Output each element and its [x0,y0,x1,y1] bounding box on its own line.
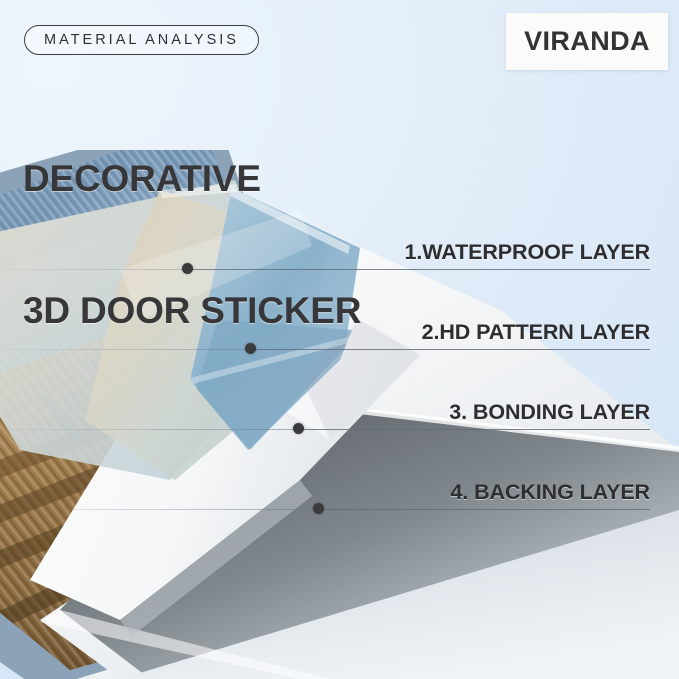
brand-logo-text: VIRANDA [524,26,650,57]
badge-label: MATERIAL ANALYSIS [44,32,239,48]
layer-leader-line-4 [319,509,650,510]
layer-leader-line-2 [251,349,650,350]
brand-logo-box: VIRANDA [506,13,668,70]
layer-label-2: 2.HD PATTERN LAYER [422,320,650,345]
page-title: DECORATIVE 3D DOOR STICKER [23,69,361,421]
layer-marker-dot-4 [313,503,324,514]
title-line-2: 3D DOOR STICKER [23,289,361,333]
layer-leader-line-1 [188,269,650,270]
layer-marker-dot-1 [182,263,193,274]
layer-label-1: 1.WATERPROOF LAYER [405,240,650,265]
layer-marker-dot-2 [245,343,256,354]
material-analysis-badge: MATERIAL ANALYSIS [24,25,259,55]
layer-leader-line-3 [299,429,650,430]
layer-label-4: 4. BACKING LAYER [450,480,650,505]
layer-label-3: 3. BONDING LAYER [449,400,650,425]
infographic-canvas: MATERIAL ANALYSIS DECORATIVE 3D DOOR STI… [0,0,679,679]
title-line-1: DECORATIVE [23,157,361,201]
layer-marker-dot-3 [293,423,304,434]
